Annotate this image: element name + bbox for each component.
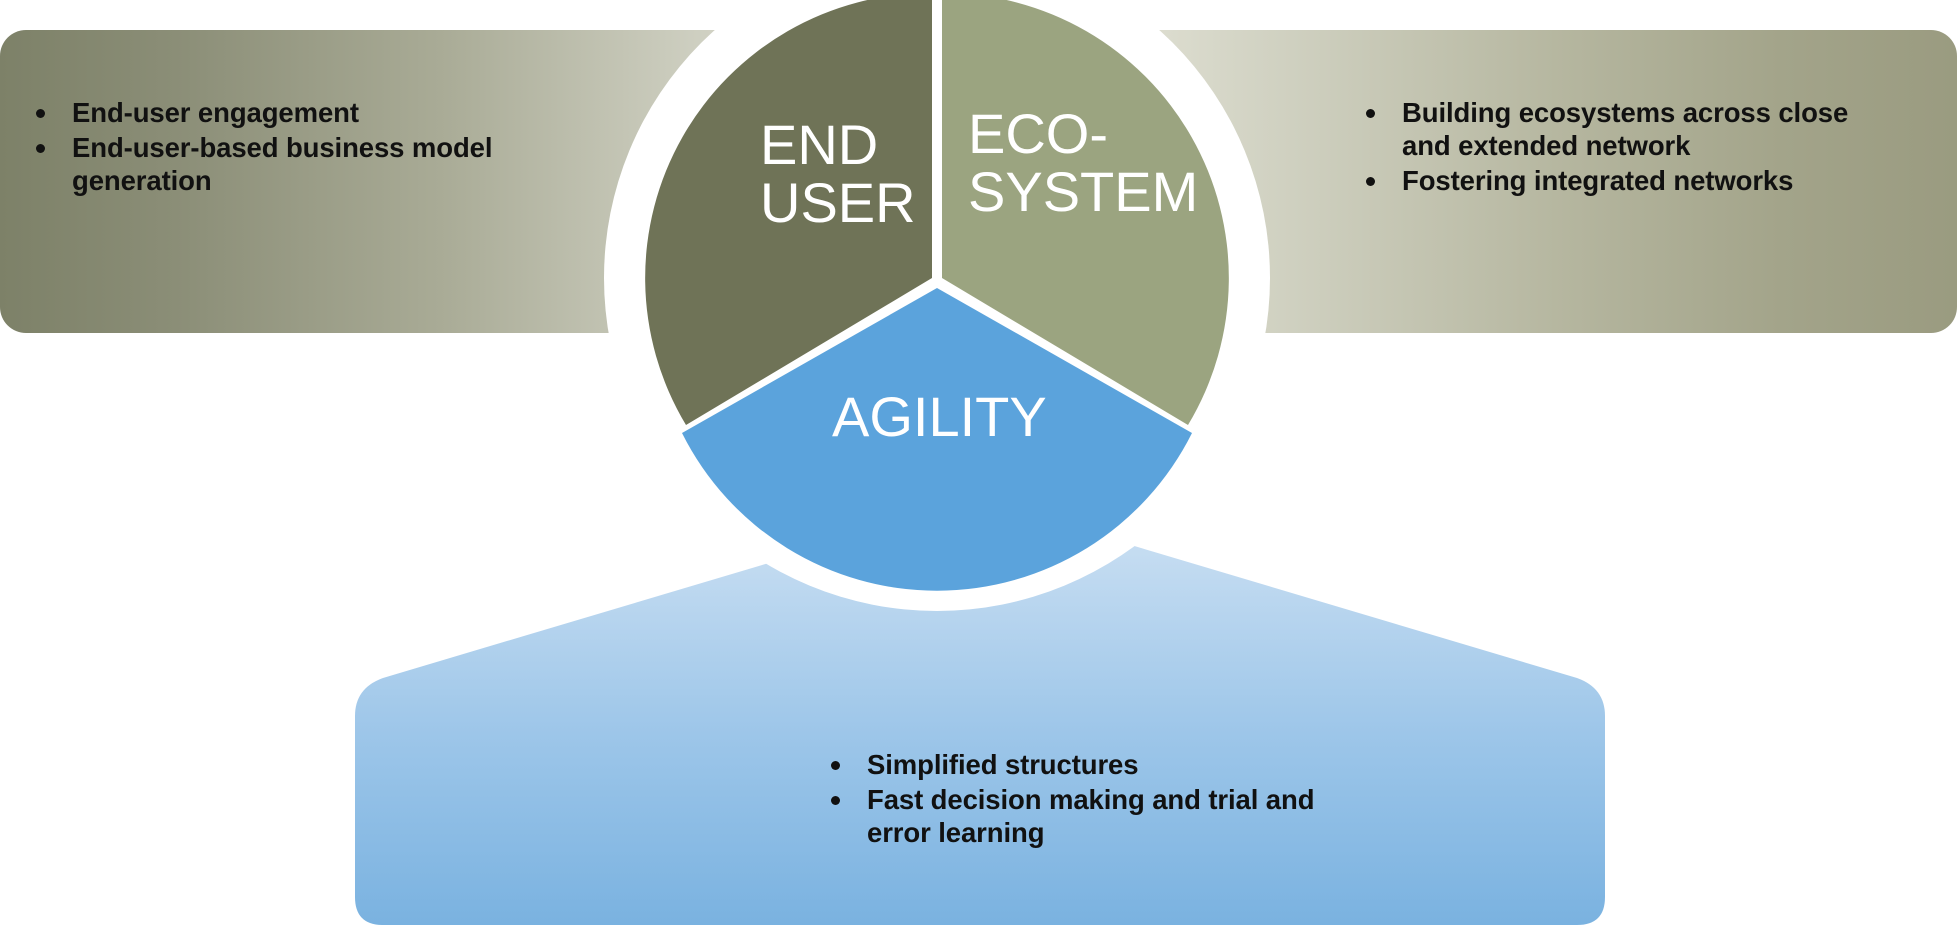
bullet-text: Fast decision making and trial and error… bbox=[867, 784, 1314, 848]
list-item: Fast decision making and trial and error… bbox=[795, 783, 1355, 849]
bullet-text: End-user-based business model generation bbox=[72, 132, 492, 196]
bullet-dot-icon bbox=[1366, 177, 1375, 186]
agility-bullet-list: Simplified structures Fast decision maki… bbox=[795, 748, 1355, 851]
diagram-canvas: End-user engagement End-user-based busin… bbox=[0, 0, 1957, 925]
bullet-text: End-user engagement bbox=[72, 97, 359, 128]
bullet-dot-icon bbox=[36, 109, 45, 118]
pie-label-agility: AGILITY bbox=[832, 388, 1047, 446]
bullet-text: Simplified structures bbox=[867, 749, 1138, 780]
pie-label-ecosystem: ECO- SYSTEM bbox=[968, 105, 1198, 221]
bullet-dot-icon bbox=[1366, 109, 1375, 118]
pie-label-end-user: END USER bbox=[760, 116, 916, 232]
list-item: End-user-based business model generation bbox=[0, 131, 520, 197]
bullet-text: Fostering integrated networks bbox=[1402, 165, 1793, 196]
list-item: Building ecosystems across close and ext… bbox=[1330, 96, 1890, 162]
bullet-dot-icon bbox=[36, 144, 45, 153]
list-item: Simplified structures bbox=[795, 748, 1355, 781]
bullet-dot-icon bbox=[831, 761, 840, 770]
list-item: Fostering integrated networks bbox=[1330, 164, 1890, 197]
list-item: End-user engagement bbox=[0, 96, 520, 129]
bullet-dot-icon bbox=[831, 796, 840, 805]
ecosystem-bullet-list: Building ecosystems across close and ext… bbox=[1330, 96, 1890, 199]
end-user-bullet-list: End-user engagement End-user-based busin… bbox=[0, 96, 520, 199]
bullet-text: Building ecosystems across close and ext… bbox=[1402, 97, 1848, 161]
